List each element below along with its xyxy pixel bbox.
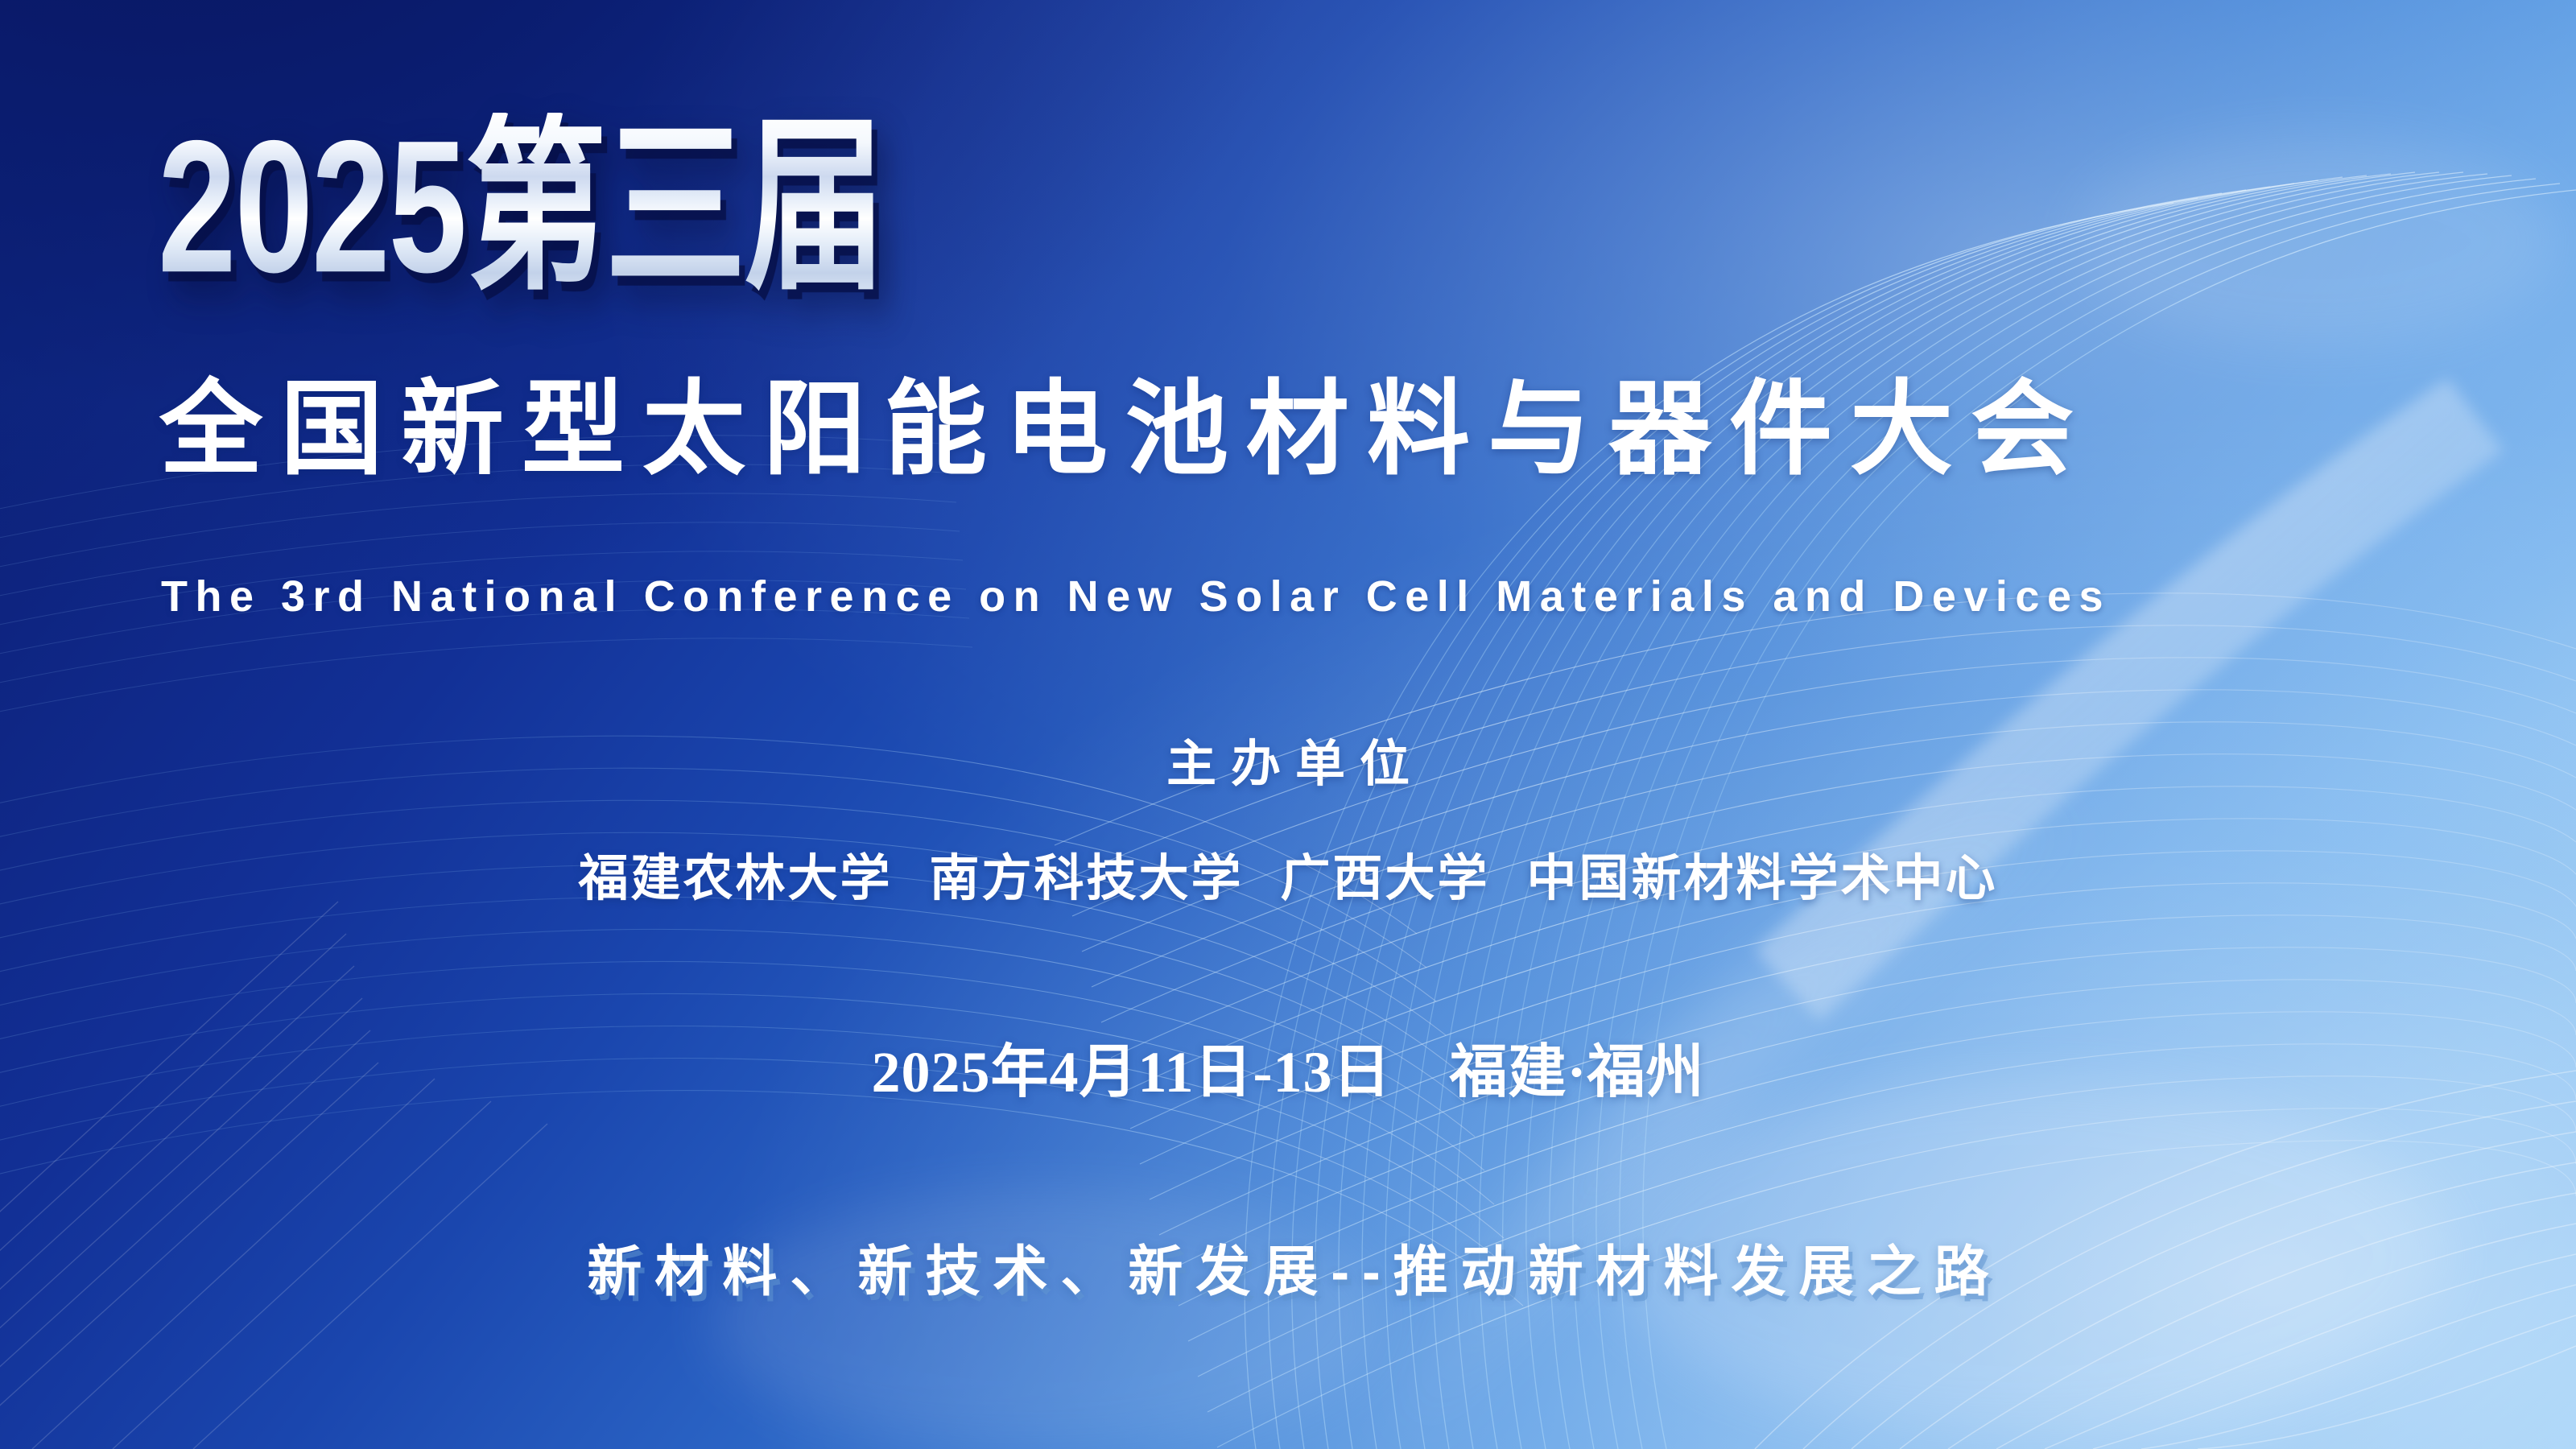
conference-banner: 2025第三届 全国新型太阳能电池材料与器件大会 The 3rd Nationa…: [0, 0, 2576, 1449]
banner-content: 2025第三届 全国新型太阳能电池材料与器件大会 The 3rd Nationa…: [0, 0, 2576, 1449]
date-and-location: 2025年4月11日-13日福建·福州: [0, 1024, 2576, 1108]
host-organization-list: 福建农林大学南方科技大学广西大学中国新材料学术中心: [0, 837, 2576, 910]
conference-tagline: 新材料、新技术、新发展--推动新材料发展之路: [0, 1227, 2576, 1307]
conference-subtitle-english: The 3rd National Conference on New Solar…: [161, 575, 2111, 618]
host-item-0: 福建农林大学: [578, 852, 892, 906]
event-date: 2025年4月11日-13日: [871, 1040, 1391, 1104]
event-location: 福建·福州: [1450, 1040, 1705, 1104]
year-edition-title: 2025第三届: [158, 113, 884, 301]
host-item-2: 广西大学: [1281, 852, 1490, 906]
host-item-1: 南方科技大学: [929, 852, 1243, 906]
conference-headline: 全国新型太阳能电池材料与器件大会: [159, 378, 2091, 481]
host-section-label: 主办单位: [0, 723, 2576, 795]
host-item-3: 中国新材料学术中心: [1527, 852, 1998, 906]
